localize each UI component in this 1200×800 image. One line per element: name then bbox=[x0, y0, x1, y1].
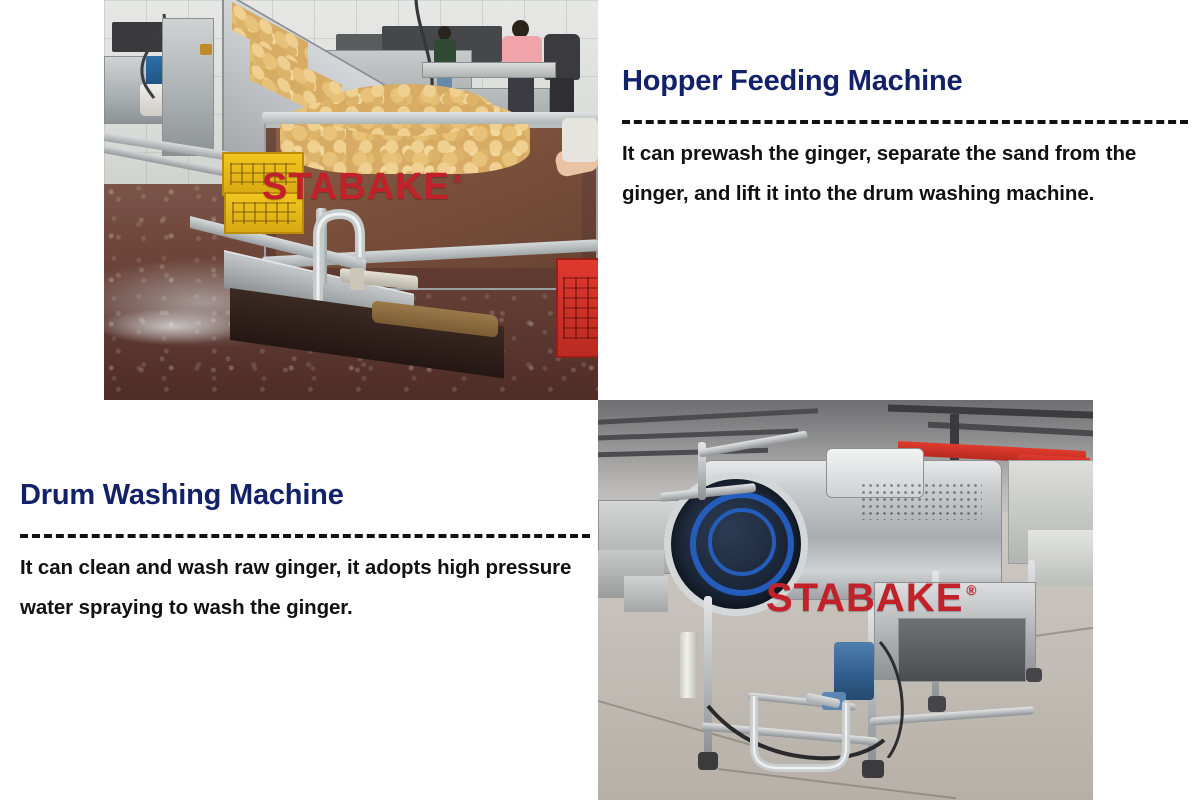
watermark-text: STABAKE bbox=[262, 166, 450, 208]
registered-mark-icon: ® bbox=[453, 171, 463, 186]
sorting-table bbox=[422, 62, 556, 78]
registered-mark-icon: ® bbox=[966, 583, 976, 598]
description-block-hopper: Hopper Feeding Machine It can prewash th… bbox=[622, 66, 1190, 214]
worker-sleeve bbox=[562, 118, 598, 162]
caster-wheel-4 bbox=[1026, 668, 1042, 682]
drum-title: Drum Washing Machine bbox=[20, 480, 598, 512]
background-machine-right-2 bbox=[1028, 530, 1093, 586]
caster-wheel-2 bbox=[862, 760, 884, 778]
watermark-stabake-photo1: STABAKE® bbox=[262, 168, 459, 206]
drum-divider bbox=[20, 534, 590, 538]
ginger-pile-main-top bbox=[318, 84, 494, 136]
photo-drum-washing-machine: STABAKE® bbox=[598, 400, 1093, 800]
hopper-title: Hopper Feeding Machine bbox=[622, 66, 1190, 98]
pipe-flange bbox=[350, 268, 364, 290]
hopper-description: It can prewash the ginger, separate the … bbox=[622, 134, 1182, 214]
bottom-handle-pipe-icon bbox=[746, 696, 856, 776]
caster-wheel-1 bbox=[698, 752, 718, 770]
drum-perforated-section bbox=[860, 482, 982, 520]
page-root: STABAKE® bbox=[0, 0, 1200, 800]
control-cabinet bbox=[162, 18, 214, 156]
cabinet-indicator-light bbox=[200, 44, 212, 55]
red-crate-right bbox=[556, 258, 598, 358]
description-block-drum: Drum Washing Machine It can clean and wa… bbox=[20, 480, 598, 628]
watermark-stabake-photo2: STABAKE® bbox=[766, 578, 973, 618]
background-machine-left-2 bbox=[624, 576, 668, 612]
photo-hopper-feeding-machine: STABAKE® bbox=[104, 0, 598, 400]
drum-description: It can clean and wash raw ginger, it ado… bbox=[20, 548, 590, 628]
white-tube-on-floor bbox=[680, 632, 698, 698]
caster-wheel-3 bbox=[928, 696, 946, 712]
drum-inner-blue-ring-2 bbox=[708, 508, 776, 576]
tank-rim-top bbox=[262, 112, 598, 124]
watermark-text: STABAKE bbox=[766, 576, 963, 620]
hopper-divider bbox=[622, 120, 1188, 124]
